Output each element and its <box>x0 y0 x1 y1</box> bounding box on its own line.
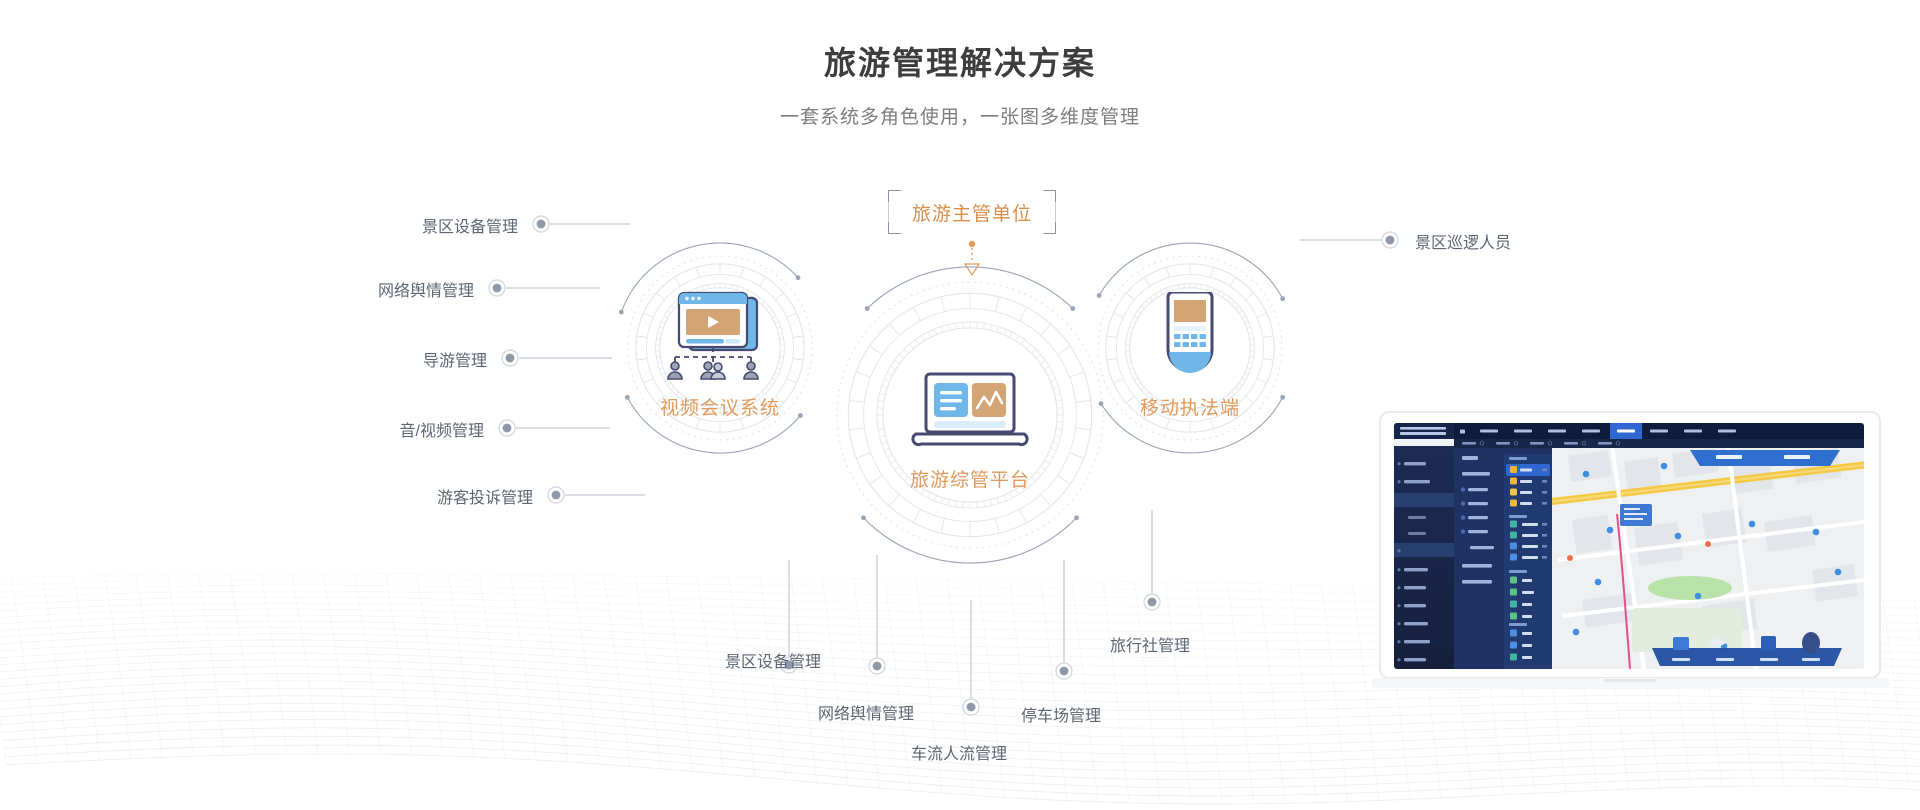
node-label-tourism-platform: 旅游综管平台 <box>870 465 1070 492</box>
left-label-dot-2 <box>502 350 518 366</box>
badge-corner-3 <box>1044 190 1056 191</box>
authority-badge[interactable]: 旅游主管单位 <box>888 190 1056 234</box>
badge-corner-2 <box>1055 190 1056 202</box>
left-label-2[interactable]: 导游管理 <box>247 347 487 371</box>
solution-infographic: 旅游管理解决方案 一套系统多角色使用，一张图多维度管理 旅游主管单位 <box>0 0 1920 810</box>
node-label-mobile-enforcement: 移动执法端 <box>1090 393 1290 420</box>
bottom-label-dot-1 <box>869 658 885 674</box>
badge-corner-5 <box>888 233 900 234</box>
left-label-dot-4 <box>548 487 564 503</box>
bottom-label-4[interactable]: 旅行社管理 <box>1110 632 1190 656</box>
mobile-device-icon <box>1158 292 1222 378</box>
badge-corner-7 <box>1044 233 1056 234</box>
right-label-dot-0 <box>1382 232 1398 248</box>
bottom-label-dot-4 <box>1144 594 1160 610</box>
connector-lines-layer <box>506 224 1381 698</box>
page-header: 旅游管理解决方案 一套系统多角色使用，一张图多维度管理 <box>0 0 1920 129</box>
badge-connector <box>965 241 979 275</box>
video-conference-icon <box>655 290 785 380</box>
left-label-4[interactable]: 游客投诉管理 <box>293 484 533 508</box>
bottom-label-dot-3 <box>1056 663 1072 679</box>
bottom-label-3[interactable]: 停车场管理 <box>1021 702 1101 726</box>
laptop-mockup <box>1372 410 1920 705</box>
badge-corner-0 <box>888 190 889 202</box>
bottom-label-dot-2 <box>963 699 979 715</box>
left-label-1[interactable]: 网络舆情管理 <box>234 277 474 301</box>
bottom-label-2[interactable]: 车流人流管理 <box>911 740 1007 764</box>
left-label-dot-1 <box>489 280 505 296</box>
left-label-3[interactable]: 音/视频管理 <box>244 417 484 441</box>
left-label-dot-3 <box>499 420 515 436</box>
page-subtitle: 一套系统多角色使用，一张图多维度管理 <box>0 82 1920 129</box>
left-label-dot-0 <box>533 216 549 232</box>
bottom-label-1[interactable]: 网络舆情管理 <box>818 700 914 724</box>
page-title: 旅游管理解决方案 <box>0 0 1920 82</box>
bottom-label-0[interactable]: 景区设备管理 <box>725 648 821 672</box>
right-label-0[interactable]: 景区巡逻人员 <box>1415 229 1511 253</box>
left-label-0[interactable]: 景区设备管理 <box>278 213 518 237</box>
node-label-video-conference: 视频会议系统 <box>620 393 820 420</box>
laptop-dashboard-icon <box>908 372 1032 452</box>
badge-corner-1 <box>888 190 900 191</box>
badge-label: 旅游主管单位 <box>906 199 1038 226</box>
